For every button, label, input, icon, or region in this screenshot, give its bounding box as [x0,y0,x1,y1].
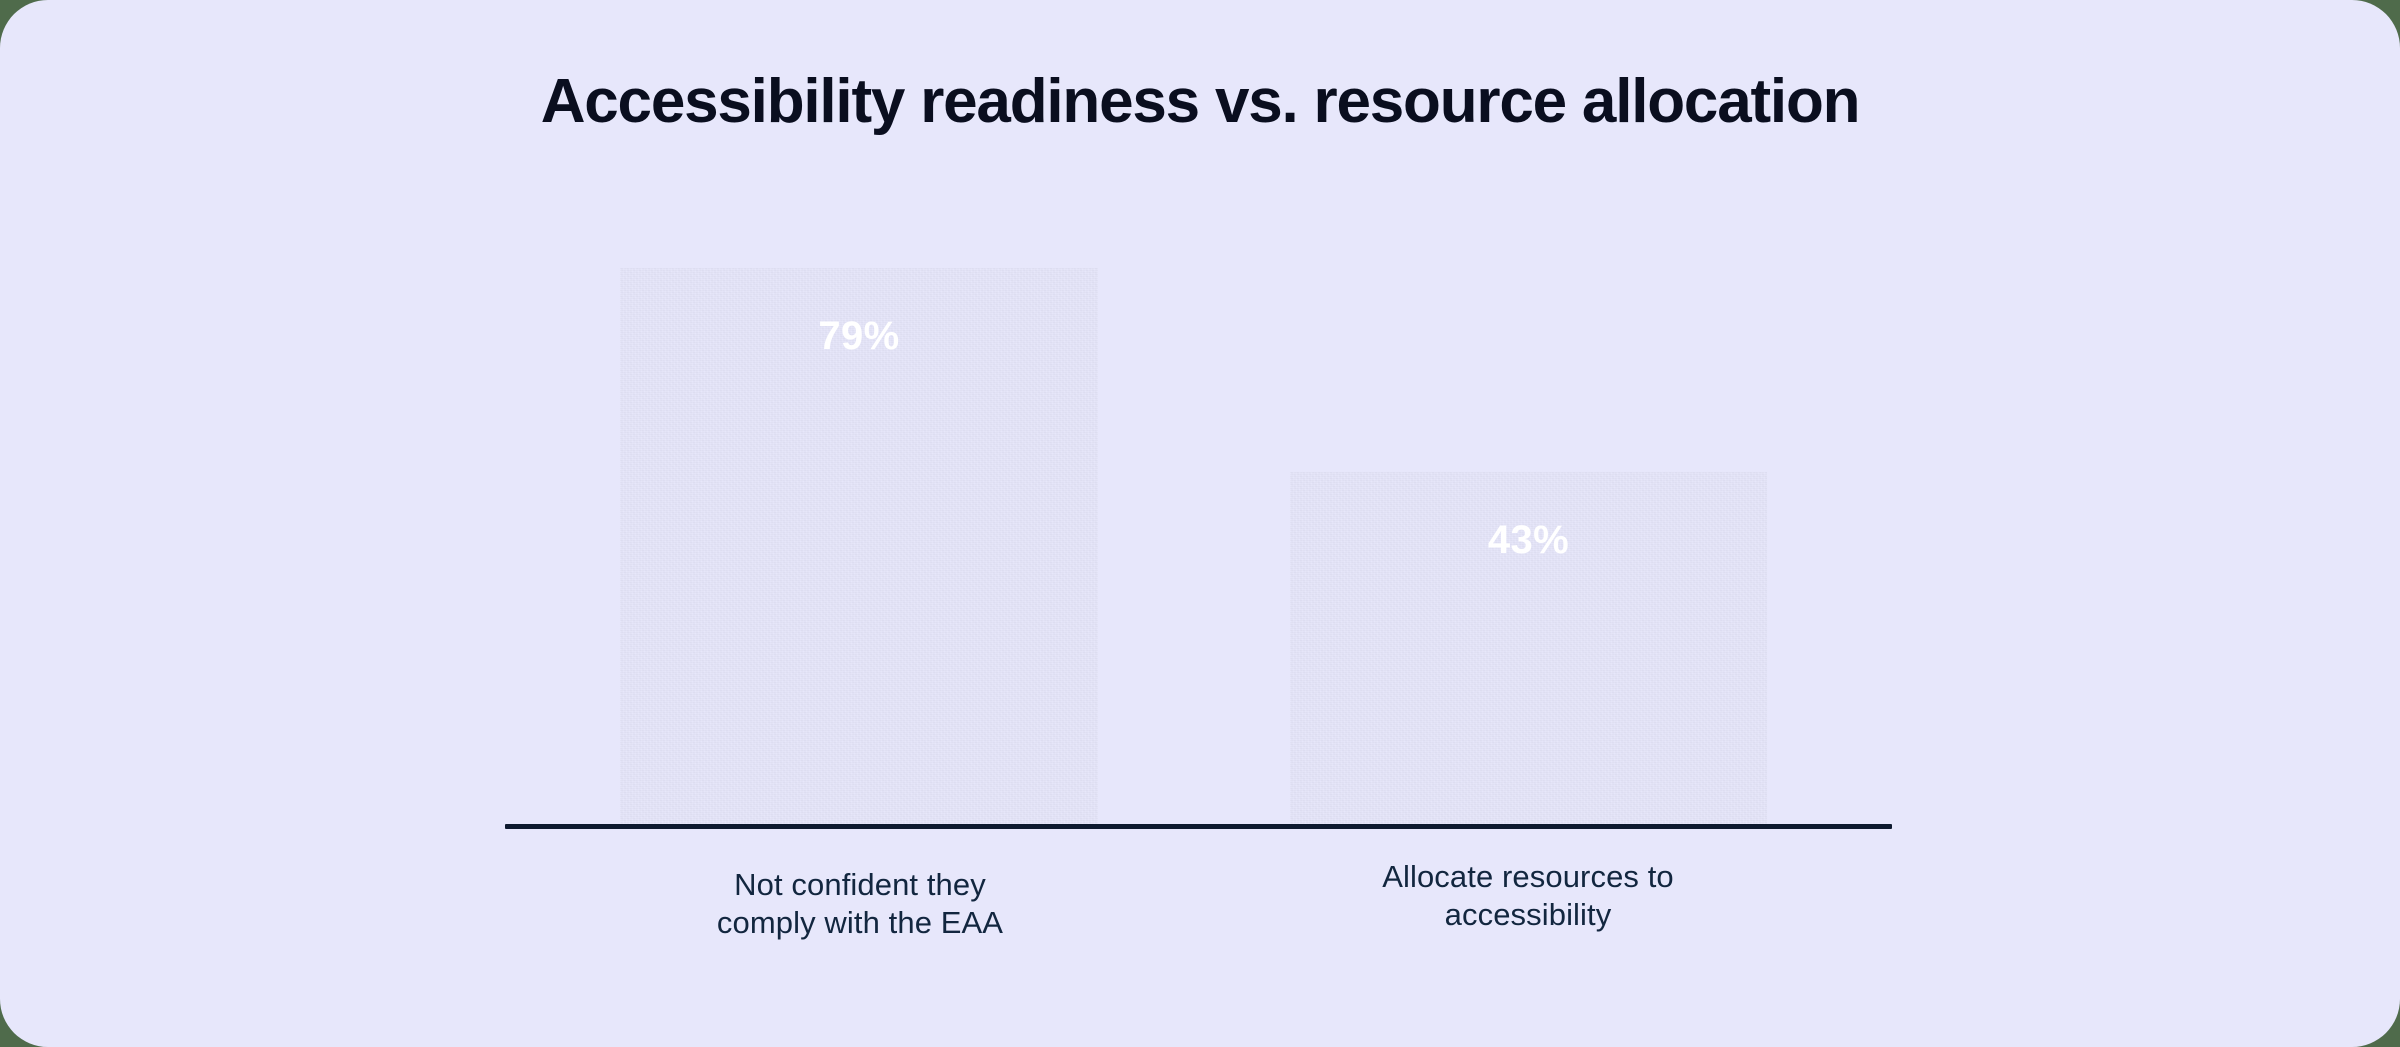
x-axis-label-not-confident-eaa: Not confident they comply with the EAA [600,866,1120,942]
x-axis-label-1-line-2: comply with the EAA [600,904,1120,942]
bar-not-confident-eaa: 79% [620,268,1098,826]
x-axis-baseline [505,824,1892,829]
bar-chart-plot-area: 79% 43% Not confident they comply with t… [0,0,2400,1047]
x-axis-label-1-line-1: Not confident they [600,866,1120,904]
bar-value-label-1: 79% [620,314,1098,359]
bar-allocate-resources: 43% [1290,472,1767,826]
x-axis-label-allocate-resources: Allocate resources to accessibility [1268,858,1788,934]
bar-value-label-2: 43% [1290,518,1767,563]
chart-card: Accessibility readiness vs. resource all… [0,0,2400,1047]
x-axis-label-2-line-1: Allocate resources to [1268,858,1788,896]
x-axis-label-2-line-2: accessibility [1268,896,1788,934]
